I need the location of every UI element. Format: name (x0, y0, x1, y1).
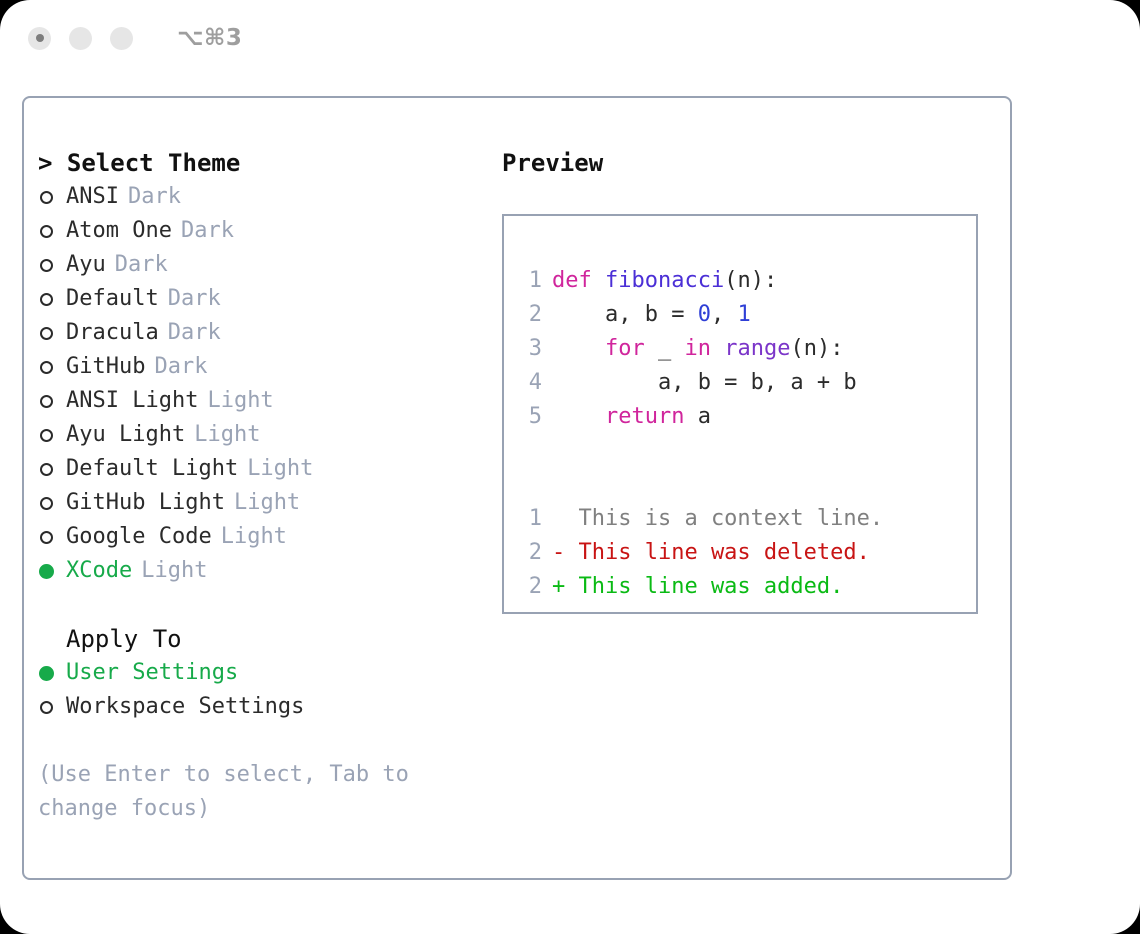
terminal-window-frame: > Select Theme ANSIDarkAtom OneDarkAyuDa… (22, 96, 1012, 880)
window-controls (28, 27, 133, 50)
theme-variant-tag: Light (194, 418, 260, 452)
theme-option[interactable]: ANSI LightLight (38, 384, 488, 418)
code-token (552, 336, 605, 361)
code-token: , (711, 302, 738, 327)
app-window: ⌥⌘3 > Select Theme ANSIDarkAtom OneDarkA… (0, 0, 1140, 934)
empty-circle-icon (40, 327, 53, 340)
diff-line-text: - This line was deleted. (552, 540, 870, 565)
radio-unselected-icon (38, 361, 66, 374)
theme-variant-tag: Dark (181, 214, 234, 248)
theme-option-label: ANSI (66, 180, 119, 214)
theme-option-label: Default (66, 282, 159, 316)
empty-circle-icon (40, 463, 53, 476)
theme-variant-tag: Light (234, 486, 300, 520)
theme-option-label: GitHub (66, 350, 145, 384)
filled-circle-icon (39, 564, 54, 579)
code-line: 4 a, b = b, a + b (520, 366, 970, 400)
diff-line: 1 This is a context line. (520, 502, 970, 536)
code-spacer (520, 434, 970, 468)
theme-option[interactable]: Google CodeLight (38, 520, 488, 554)
diff-line: 2- This line was deleted. (520, 536, 970, 570)
filled-circle-icon (39, 666, 54, 681)
apply-to-option-label: User Settings (66, 656, 238, 690)
diff-line-text: + This line was added. (552, 574, 843, 599)
theme-list: ANSIDarkAtom OneDarkAyuDarkDefaultDarkDr… (38, 180, 488, 588)
theme-variant-tag: Light (221, 520, 287, 554)
code-line: 1def fibonacci(n): (520, 264, 970, 298)
theme-variant-tag: Dark (168, 316, 221, 350)
diff-line: 2+ This line was added. (520, 570, 970, 604)
radio-unselected-icon (38, 701, 66, 714)
theme-variant-tag: Dark (115, 248, 168, 282)
keyboard-hint: (Use Enter to select, Tab to change focu… (38, 758, 438, 826)
titlebar: ⌥⌘3 (0, 0, 1140, 76)
preview-pane: Preview 1def fibonacci(n):2 a, b = 0, 13… (502, 146, 992, 614)
theme-option-label: Atom One (66, 214, 172, 248)
code-token: a, b = b, a + b (552, 370, 857, 395)
code-line: 3 for _ in range(n): (520, 332, 970, 366)
line-number: 2 (520, 570, 542, 604)
radio-unselected-icon (38, 259, 66, 272)
empty-circle-icon (40, 259, 53, 272)
theme-variant-tag: Light (247, 452, 313, 486)
theme-option[interactable]: GitHubDark (38, 350, 488, 384)
window-control-maximize[interactable] (110, 27, 133, 50)
preview-label: Preview (502, 146, 992, 180)
select-theme-header: > Select Theme (38, 146, 488, 180)
radio-unselected-icon (38, 327, 66, 340)
theme-variant-tag: Dark (168, 282, 221, 316)
code-token (552, 404, 605, 429)
apply-to-header: Apply To (38, 622, 488, 656)
radio-unselected-icon (38, 463, 66, 476)
theme-option-label: GitHub Light (66, 486, 225, 520)
theme-option-label: Ayu (66, 248, 106, 282)
theme-option[interactable]: GitHub LightLight (38, 486, 488, 520)
theme-option[interactable]: XCodeLight (38, 554, 488, 588)
theme-option[interactable]: Ayu LightLight (38, 418, 488, 452)
theme-option-label: ANSI Light (66, 384, 198, 418)
theme-option[interactable]: Default LightLight (38, 452, 488, 486)
preview-box: 1def fibonacci(n):2 a, b = 0, 13 for _ i… (502, 214, 978, 614)
radio-selected-icon (38, 666, 66, 681)
theme-option-label: Google Code (66, 520, 212, 554)
theme-selector-pane: > Select Theme ANSIDarkAtom OneDarkAyuDa… (38, 146, 488, 826)
shortcut-label: ⌥⌘3 (177, 25, 242, 51)
theme-option[interactable]: ANSIDark (38, 180, 488, 214)
line-number: 5 (520, 400, 542, 434)
code-token: 1 (737, 302, 750, 327)
radio-unselected-icon (38, 429, 66, 442)
window-control-minimize[interactable] (69, 27, 92, 50)
apply-to-option-label: Workspace Settings (66, 690, 304, 724)
radio-unselected-icon (38, 225, 66, 238)
theme-option[interactable]: Atom OneDark (38, 214, 488, 248)
code-token: in (684, 336, 711, 361)
theme-option[interactable]: DefaultDark (38, 282, 488, 316)
active-dot-icon (36, 34, 44, 42)
theme-variant-tag: Light (141, 554, 207, 588)
empty-circle-icon (40, 225, 53, 238)
code-spacer (520, 468, 970, 502)
code-token: 0 (698, 302, 711, 327)
code-token: def (552, 268, 605, 293)
code-line: 2 a, b = 0, 1 (520, 298, 970, 332)
apply-to-block: Apply To User SettingsWorkspace Settings (38, 622, 488, 724)
empty-circle-icon (40, 293, 53, 306)
theme-option[interactable]: AyuDark (38, 248, 488, 282)
apply-to-option[interactable]: Workspace Settings (38, 690, 488, 724)
theme-option-label: Ayu Light (66, 418, 185, 452)
theme-option-label: Default Light (66, 452, 238, 486)
empty-circle-icon (40, 531, 53, 544)
empty-circle-icon (40, 497, 53, 510)
radio-unselected-icon (38, 293, 66, 306)
radio-unselected-icon (38, 531, 66, 544)
code-token: fibonacci (605, 268, 724, 293)
code-token: range (724, 336, 790, 361)
line-number: 2 (520, 536, 542, 570)
window-control-close[interactable] (28, 27, 51, 50)
code-token: a, b = (552, 302, 698, 327)
code-token: (n): (724, 268, 777, 293)
line-number: 1 (520, 264, 542, 298)
code-token (711, 336, 724, 361)
radio-unselected-icon (38, 395, 66, 408)
radio-unselected-icon (38, 497, 66, 510)
code-token: for (605, 336, 645, 361)
code-preview: 1def fibonacci(n):2 a, b = 0, 13 for _ i… (520, 264, 970, 604)
line-number: 1 (520, 502, 542, 536)
empty-circle-icon (40, 191, 53, 204)
line-number: 3 (520, 332, 542, 366)
theme-variant-tag: Dark (154, 350, 207, 384)
line-number: 2 (520, 298, 542, 332)
code-token: a (684, 404, 711, 429)
theme-option-label: Dracula (66, 316, 159, 350)
empty-circle-icon (40, 395, 53, 408)
empty-circle-icon (40, 429, 53, 442)
line-number: 4 (520, 366, 542, 400)
radio-unselected-icon (38, 191, 66, 204)
theme-variant-tag: Dark (128, 180, 181, 214)
code-token: return (605, 404, 684, 429)
code-token: (n): (790, 336, 843, 361)
diff-line-text: This is a context line. (552, 506, 883, 531)
theme-variant-tag: Light (207, 384, 273, 418)
radio-selected-icon (38, 564, 66, 579)
empty-circle-icon (40, 701, 53, 714)
panes: > Select Theme ANSIDarkAtom OneDarkAyuDa… (24, 98, 1010, 878)
theme-option-label: XCode (66, 554, 132, 588)
apply-to-option[interactable]: User Settings (38, 656, 488, 690)
code-line: 5 return a (520, 400, 970, 434)
theme-option[interactable]: DraculaDark (38, 316, 488, 350)
empty-circle-icon (40, 361, 53, 374)
apply-to-list: User SettingsWorkspace Settings (38, 656, 488, 724)
code-token: _ (645, 336, 685, 361)
